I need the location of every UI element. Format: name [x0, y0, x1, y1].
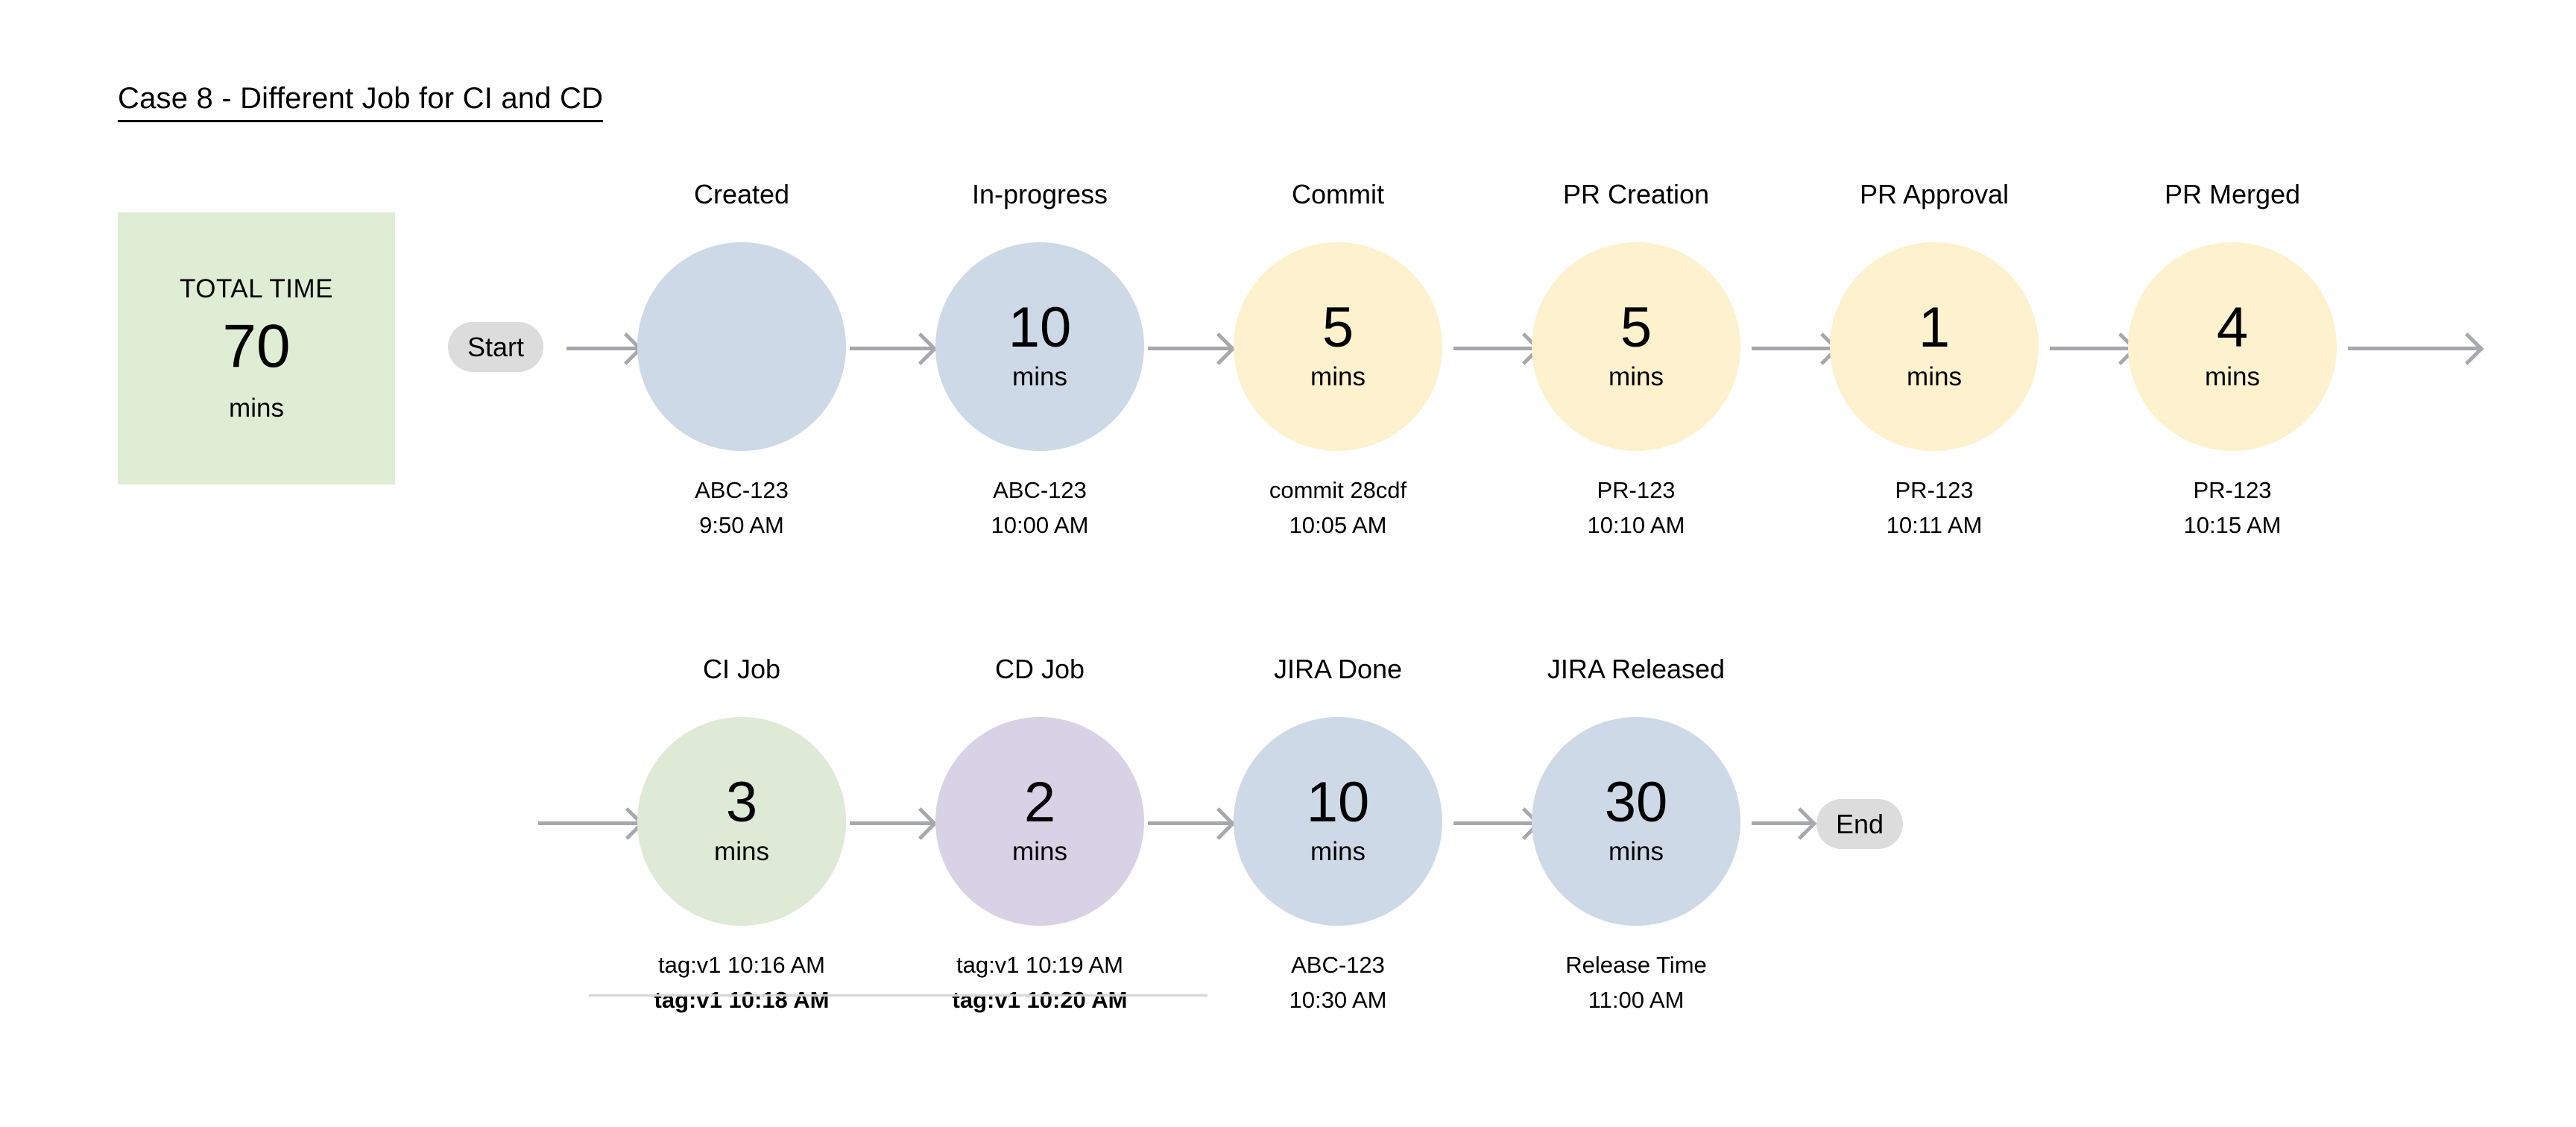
node-title: PR Merged	[2128, 179, 2337, 210]
node-sub-line: tag:v1 10:16 AM	[607, 948, 876, 983]
node-circle[interactable]: 4 mins	[2128, 242, 2337, 451]
node-sub-line: 10:15 AM	[2098, 508, 2367, 543]
node-subtext: tag:v1 10:16 AM tag:v1 10:18 AM	[607, 948, 876, 1017]
node-sub-line: ABC-123	[607, 473, 876, 508]
node-title: CI Job	[637, 654, 846, 685]
node-title: CD Job	[935, 654, 1144, 685]
connector-row1-to-cijob	[538, 821, 639, 825]
node-sub-line: 10:30 AM	[1204, 983, 1472, 1018]
node-duration-unit: mins	[1609, 362, 1664, 392]
page-title: Case 8 - Different Job for CI and CD	[118, 82, 603, 122]
node-circle[interactable]: 3 mins	[637, 717, 846, 926]
tag-divider	[589, 994, 1207, 997]
connector-prapproval-to-prmerged	[2050, 347, 2132, 350]
node-duration-unit: mins	[1310, 837, 1366, 867]
node-subtext: PR-123 10:15 AM	[2098, 473, 2367, 543]
node-duration-unit: mins	[1012, 837, 1067, 867]
node-duration-unit: mins	[1012, 362, 1067, 392]
node-duration-unit: mins	[714, 837, 769, 867]
node-sub-line: ABC-123	[1204, 948, 1472, 983]
node-sub-line: Release Time	[1502, 948, 1770, 983]
node-duration-unit: mins	[1609, 837, 1664, 867]
node-circle[interactable]: 5 mins	[1234, 242, 1442, 451]
node-sub-line: commit 28cdf	[1204, 473, 1472, 508]
node-sub-line: 10:11 AM	[1800, 508, 2068, 543]
node-circle[interactable]: 1 mins	[1830, 242, 2039, 451]
node-circle[interactable]: 2 mins	[935, 717, 1144, 926]
node-subtext: ABC-123 10:00 AM	[906, 473, 1174, 543]
node-sub-line: 11:00 AM	[1502, 983, 1770, 1018]
node-subtext: commit 28cdf 10:05 AM	[1204, 473, 1472, 543]
node-duration-value: 3	[726, 776, 757, 830]
node-sub-line: PR-123	[2098, 473, 2367, 508]
node-circle[interactable]: 30 mins	[1532, 717, 1740, 926]
connector-prmerged-to-row2	[2348, 347, 2478, 350]
node-subtext: PR-123 10:10 AM	[1502, 473, 1770, 543]
node-sub-line: PR-123	[1800, 473, 2068, 508]
node-circle[interactable]: 5 mins	[1532, 242, 1740, 451]
node-subtext: ABC-123 10:30 AM	[1204, 948, 1472, 1017]
connector-jiradone-to-jirareleased	[1453, 821, 1535, 825]
node-circle[interactable]	[637, 242, 846, 451]
node-sub-line: tag:v1 10:20 AM	[906, 983, 1174, 1018]
node-circle[interactable]: 10 mins	[1234, 717, 1442, 926]
node-duration-value: 1	[1919, 301, 1950, 355]
node-circle[interactable]: 10 mins	[935, 242, 1144, 451]
node-duration-value: 4	[2217, 301, 2248, 355]
node-title: PR Creation	[1532, 179, 1740, 210]
connector-cdjob-to-jiradone	[1148, 821, 1230, 825]
total-time-value: 70	[222, 316, 290, 377]
connector-jirareleased-to-end	[1752, 821, 1811, 825]
node-subtext: PR-123 10:11 AM	[1800, 473, 2068, 543]
node-duration-value: 2	[1024, 776, 1055, 830]
node-duration-value: 5	[1620, 301, 1652, 355]
node-duration-value: 5	[1322, 301, 1354, 355]
node-sub-line: ABC-123	[906, 473, 1174, 508]
node-title: JIRA Released	[1532, 654, 1740, 685]
end-badge[interactable]: End	[1816, 799, 1903, 849]
node-duration-value: 10	[1307, 776, 1370, 830]
connector-inprogress-to-commit	[1148, 347, 1230, 350]
node-sub-line: 10:10 AM	[1502, 508, 1770, 543]
connector-prcreation-to-prapproval	[1752, 347, 1834, 350]
total-time-unit: mins	[229, 394, 284, 423]
node-title: Commit	[1234, 179, 1442, 210]
node-duration-unit: mins	[1907, 362, 1962, 392]
node-title: Created	[637, 179, 846, 210]
node-sub-line: tag:v1 10:19 AM	[906, 948, 1174, 983]
node-subtext: Release Time 11:00 AM	[1502, 948, 1770, 1017]
node-sub-line: PR-123	[1502, 473, 1770, 508]
connector-cijob-to-cdjob	[850, 821, 932, 825]
node-subtext: tag:v1 10:19 AM tag:v1 10:20 AM	[906, 948, 1174, 1017]
node-sub-line: tag:v1 10:18 AM	[607, 983, 876, 1018]
total-time-card: TOTAL TIME 70 mins	[118, 212, 395, 484]
total-time-label: TOTAL TIME	[180, 274, 333, 304]
connector-created-to-inprogress	[850, 347, 932, 350]
node-duration-unit: mins	[1310, 362, 1366, 392]
node-sub-line: 10:00 AM	[906, 508, 1174, 543]
node-sub-line: 10:05 AM	[1204, 508, 1472, 543]
node-title: PR Approval	[1830, 179, 2039, 210]
connector-commit-to-prcreation	[1453, 347, 1535, 350]
node-title: JIRA Done	[1234, 654, 1442, 685]
node-title: In-progress	[935, 179, 1144, 210]
node-duration-value: 30	[1605, 776, 1668, 830]
node-duration-value: 10	[1008, 301, 1072, 355]
node-duration-unit: mins	[2205, 362, 2260, 392]
connector-start-to-created	[566, 347, 637, 350]
node-sub-line: 9:50 AM	[607, 508, 876, 543]
node-subtext: ABC-123 9:50 AM	[607, 473, 876, 543]
start-badge[interactable]: Start	[448, 322, 543, 372]
